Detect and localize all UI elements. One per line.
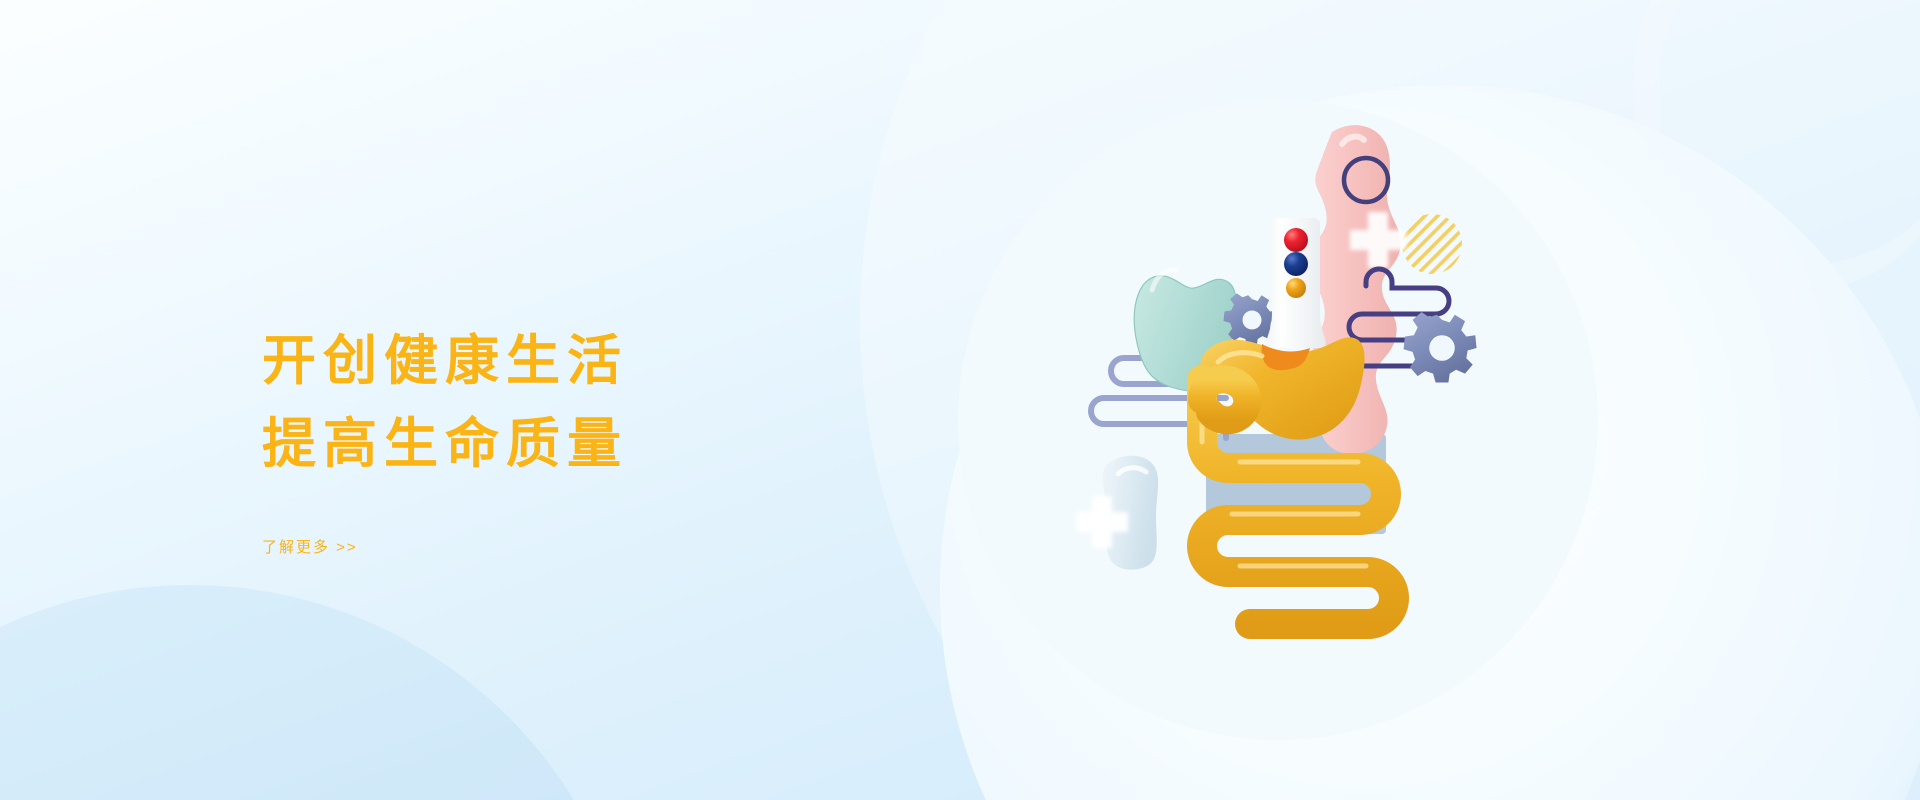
gear-large-icon	[1404, 312, 1477, 382]
hero-copy: 开创健康生活 提高生命质量 了解更多 >>	[262, 320, 882, 557]
background-circle-bottom-left	[0, 585, 640, 800]
page-title-line-1: 开创健康生活	[262, 320, 882, 403]
illustration-canvas	[1080, 100, 1550, 630]
hero-banner: 开创健康生活 提高生命质量 了解更多 >>	[0, 0, 1920, 800]
page-title-line-2: 提高生命质量	[262, 403, 882, 486]
digestive-system-illustration	[1080, 100, 1550, 630]
test-tube-dot-navy	[1284, 252, 1308, 276]
test-tube-dot-red	[1284, 228, 1308, 252]
test-tube-dot-amber	[1286, 278, 1306, 298]
learn-more-link[interactable]: 了解更多 >>	[262, 536, 358, 557]
hatched-circle	[1402, 214, 1462, 274]
